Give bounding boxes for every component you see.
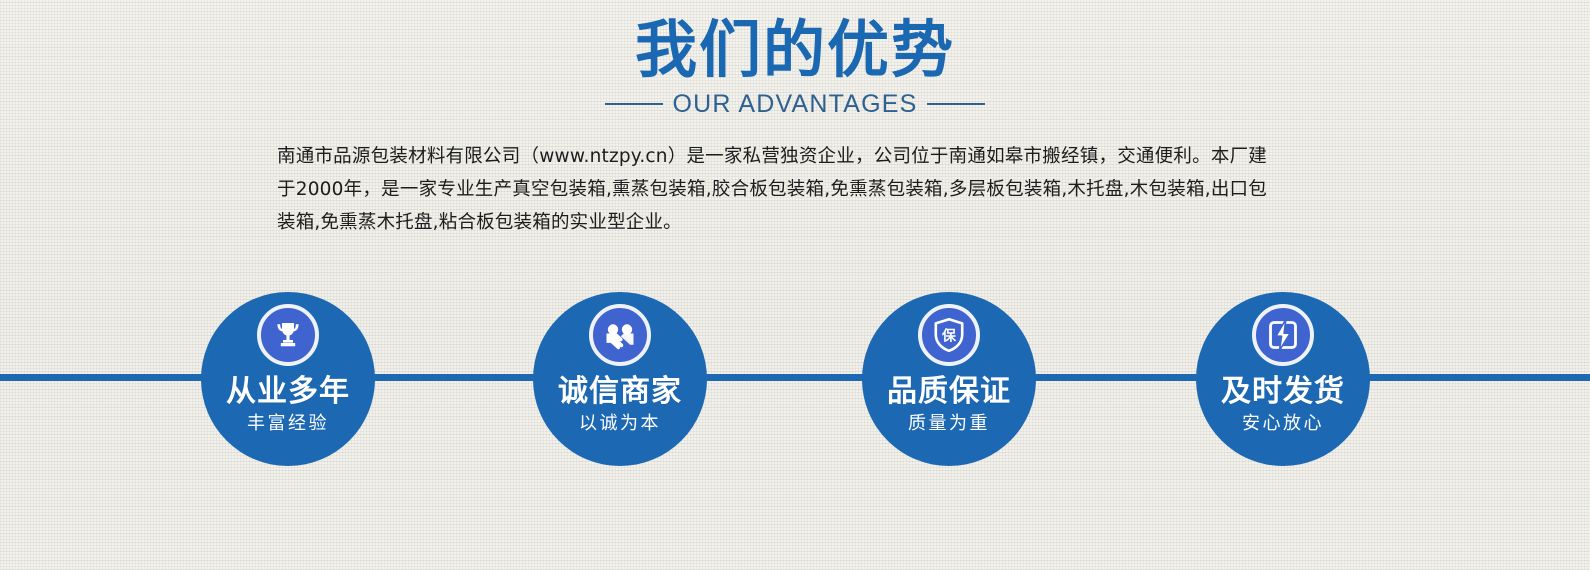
advantage-badge-title: 品质保证 (887, 375, 1011, 409)
page-title: 我们的优势 (0, 14, 1590, 86)
advantage-badge: 保 品质保证 质量为重 (862, 292, 1036, 466)
advantage-badge-subtitle: 丰富经验 (247, 413, 329, 435)
svg-text:保: 保 (941, 328, 957, 345)
shield-bao-icon: 保 (918, 304, 980, 366)
company-intro-paragraph: 南通市品源包装材料有限公司（www.ntzpy.cn）是一家私营独资企业，公司位… (277, 140, 1267, 239)
advantage-badge: 诚信商家 以诚为本 (533, 292, 707, 466)
page-subtitle: OUR ADVANTAGES (672, 90, 917, 118)
handshake-icon (589, 304, 651, 366)
advantage-badge-list: 从业多年 丰富经验 诚信商家 以诚为本 (0, 292, 1590, 472)
trophy-icon (257, 304, 319, 366)
subtitle-rule-left (605, 103, 663, 105)
advantage-badge-title: 诚信商家 (558, 375, 682, 409)
section-header: 我们的优势 OUR ADVANTAGES (0, 0, 1590, 118)
advantage-badge-subtitle: 安心放心 (1242, 413, 1324, 435)
advantage-badge-subtitle: 质量为重 (908, 413, 990, 435)
advantage-badge: 及时发货 安心放心 (1196, 292, 1370, 466)
subtitle-rule-right (927, 103, 985, 105)
lightning-bolt-icon (1252, 304, 1314, 366)
advantage-badge: 从业多年 丰富经验 (201, 292, 375, 466)
advantages-section: 我们的优势 OUR ADVANTAGES 南通市品源包装材料有限公司（www.n… (0, 0, 1590, 570)
advantage-badge-title: 从业多年 (226, 375, 350, 409)
advantage-badge-subtitle: 以诚为本 (579, 413, 661, 435)
subtitle-row: OUR ADVANTAGES (0, 90, 1590, 118)
advantage-badge-title: 及时发货 (1221, 375, 1345, 409)
